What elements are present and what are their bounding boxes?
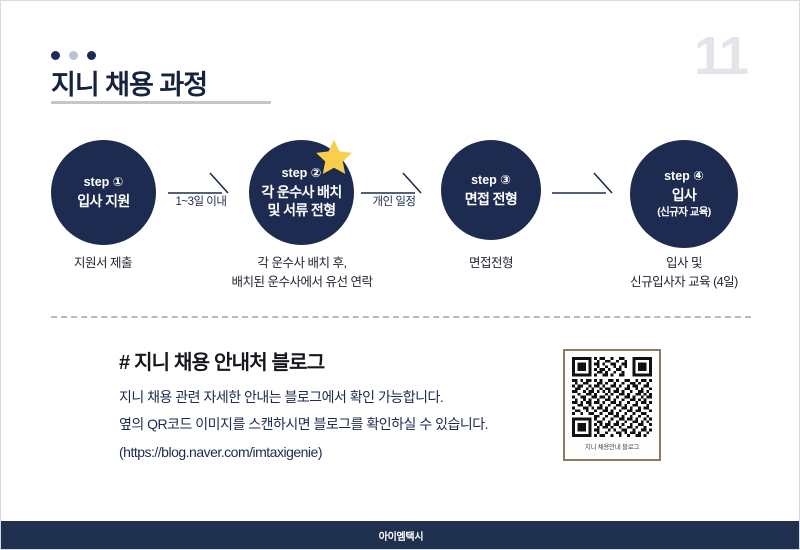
page-number: 11 (694, 29, 747, 83)
flow-arrow-1-label: 1~3일 이내 (166, 193, 236, 209)
blog-line-2: 옆의 QR코드 이미지를 스캔하시면 블로그를 확인하실 수 있습니다. (119, 411, 549, 438)
qr-code-icon (572, 357, 652, 437)
flow-step-4[interactable]: step ④ 입사 (신규자 교육) (630, 140, 738, 248)
caption-line: 각 운수사 배치 후, (206, 254, 398, 273)
arrow-right-icon (550, 171, 620, 197)
step-4-subtitle: (신규자 교육) (657, 206, 710, 219)
flow-arrow-3 (550, 171, 620, 205)
flow-step-1[interactable]: step ① 입사 지원 (51, 140, 156, 245)
page-title: 지니 채용 과정 (51, 63, 207, 102)
step-4-label: step ④ (664, 168, 704, 184)
step-1-label: step ① (84, 174, 124, 190)
caption-line: 신규입사자 교육 (4일) (601, 273, 767, 292)
star-icon (313, 137, 355, 179)
step-2-title: 각 운수사 배치 (261, 184, 341, 202)
qr-code-card[interactable]: 지니 채용안내 블로그 (563, 349, 661, 461)
caption-line: 지원서 제출 (23, 254, 183, 273)
title-underline (51, 101, 271, 104)
blog-line-1: 지니 채용 관련 자세한 안내는 블로그에서 확인 가능합니다. (119, 384, 549, 411)
flow-arrow-1: 1~3일 이내 (166, 171, 236, 205)
flow-arrow-2: 개인 일정 (359, 171, 429, 205)
recruitment-flow: step ① 입사 지원 1~3일 이내 step ② 각 운수사 배치 및 서… (1, 121, 800, 301)
blog-description: 지니 채용 관련 자세한 안내는 블로그에서 확인 가능합니다. 옆의 QR코드… (119, 384, 549, 466)
flow-step-2-caption: 각 운수사 배치 후, 배치된 운수사에서 유선 연락 (206, 254, 398, 293)
footer-brand: 아이엠택시 (379, 528, 424, 543)
step-4-title: 입사 (672, 187, 697, 205)
flow-step-4-caption: 입사 및 신규입사자 교육 (4일) (601, 254, 767, 293)
qr-code-caption: 지니 채용안내 블로그 (585, 441, 639, 451)
dot-1-icon (51, 51, 60, 60)
caption-line: 면접전형 (416, 254, 566, 273)
section-divider (51, 316, 751, 318)
footer-bar: 아이엠택시 (1, 521, 800, 549)
step-1-title: 입사 지원 (77, 193, 129, 211)
flow-step-1-caption: 지원서 제출 (23, 254, 183, 273)
step-2-subtitle: 및 서류 전형 (268, 202, 336, 220)
blog-url[interactable]: (https://blog.naver.com/imtaxigenie) (119, 439, 549, 466)
flow-step-3[interactable]: step ③ 면접 전형 (441, 140, 541, 240)
step-3-title: 면접 전형 (465, 191, 517, 209)
caption-line: 입사 및 (601, 254, 767, 273)
caption-line: 배치된 운수사에서 유선 연락 (206, 273, 398, 292)
dot-3-icon (87, 51, 96, 60)
blog-heading: # 지니 채용 안내처 블로그 (119, 346, 324, 375)
slide: 11 지니 채용 과정 step ① 입사 지원 1~3일 이내 step ② … (0, 0, 800, 550)
step-3-label: step ③ (471, 172, 511, 188)
header-dots (51, 51, 96, 60)
dot-2-icon (69, 51, 78, 60)
flow-step-3-caption: 면접전형 (416, 254, 566, 273)
flow-arrow-2-label: 개인 일정 (359, 193, 429, 209)
